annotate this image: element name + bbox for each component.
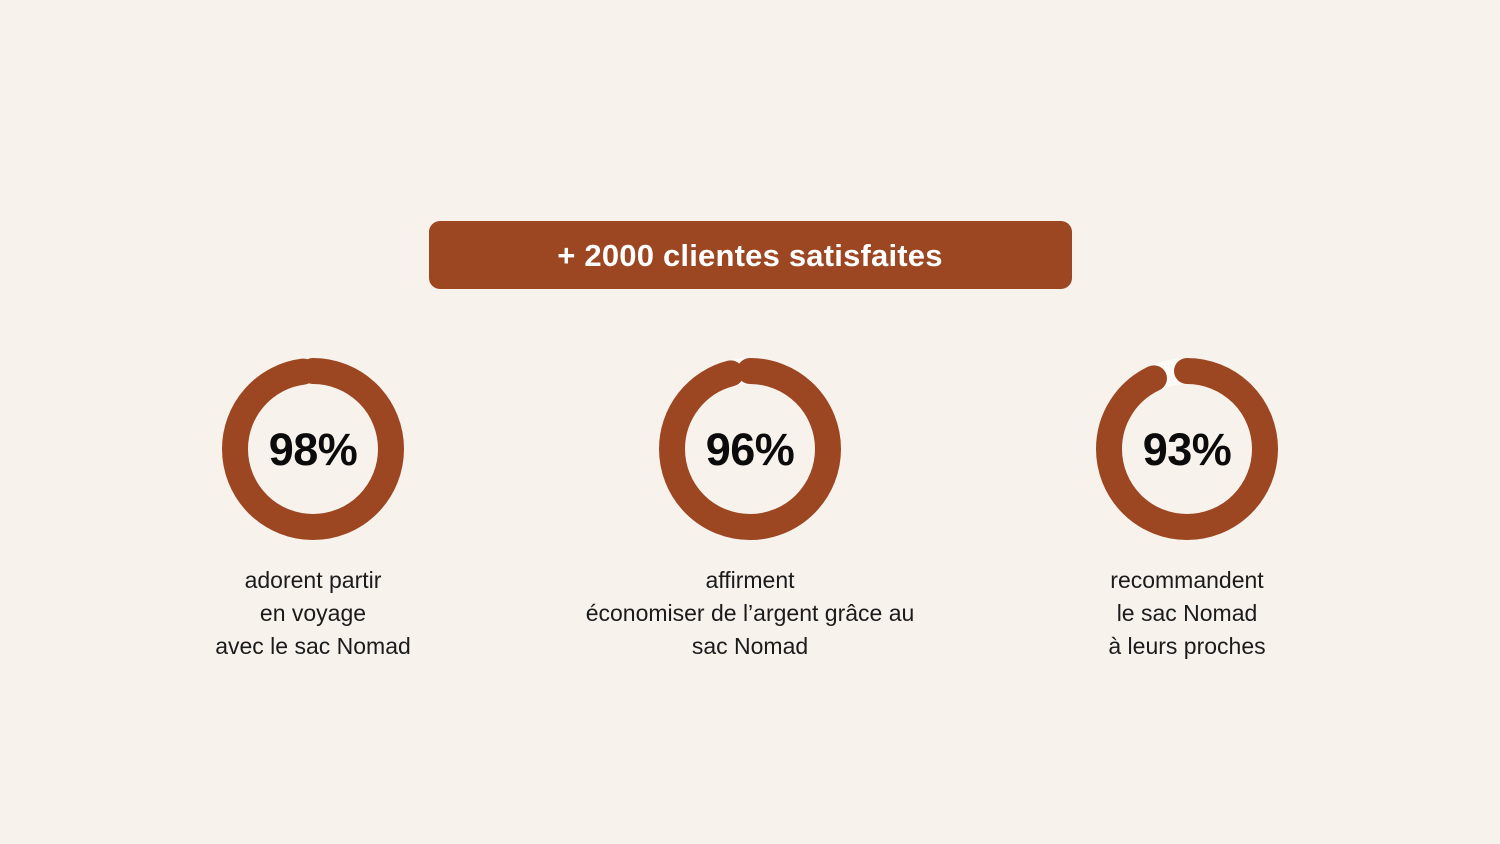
customers-banner: + 2000 clientes satisfaites bbox=[429, 221, 1072, 289]
donut-chart-1: 98% bbox=[222, 358, 404, 540]
donut-chart-2: 96% bbox=[659, 358, 841, 540]
stat-caption-1: adorent partir en voyage avec le sac Nom… bbox=[215, 564, 411, 663]
caption-line: sac Nomad bbox=[586, 630, 915, 663]
donut-percent-label-2: 96% bbox=[659, 358, 841, 540]
caption-line: adorent partir bbox=[215, 564, 411, 597]
caption-line: économiser de l’argent grâce au bbox=[586, 597, 915, 630]
stat-card-1: 98% adorent partir en voyage avec le sac… bbox=[95, 358, 532, 663]
caption-line: en voyage bbox=[215, 597, 411, 630]
stat-card-2: 96% affirment économiser de l’argent grâ… bbox=[532, 358, 969, 663]
caption-line: recommandent bbox=[1108, 564, 1265, 597]
caption-line: affirment bbox=[586, 564, 915, 597]
banner-label: + 2000 clientes satisfaites bbox=[557, 240, 942, 271]
stat-caption-2: affirment économiser de l’argent grâce a… bbox=[586, 564, 915, 663]
satisfaction-stats-page: + 2000 clientes satisfaites 98% adorent … bbox=[0, 0, 1500, 844]
donut-percent-label-3: 93% bbox=[1096, 358, 1278, 540]
stat-caption-3: recommandent le sac Nomad à leurs proche… bbox=[1108, 564, 1265, 663]
donut-chart-3: 93% bbox=[1096, 358, 1278, 540]
stats-row: 98% adorent partir en voyage avec le sac… bbox=[0, 358, 1500, 663]
caption-line: à leurs proches bbox=[1108, 630, 1265, 663]
caption-line: le sac Nomad bbox=[1108, 597, 1265, 630]
stat-card-3: 93% recommandent le sac Nomad à leurs pr… bbox=[969, 358, 1406, 663]
donut-percent-label-1: 98% bbox=[222, 358, 404, 540]
caption-line: avec le sac Nomad bbox=[215, 630, 411, 663]
banner-container: + 2000 clientes satisfaites bbox=[0, 221, 1500, 289]
